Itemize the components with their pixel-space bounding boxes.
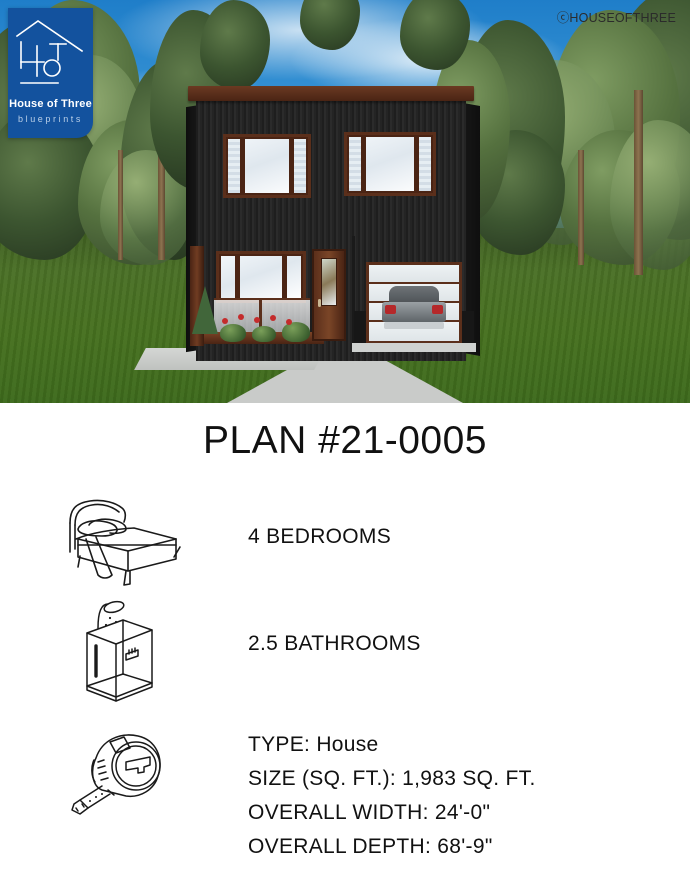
flower: [222, 318, 228, 324]
roof-fascia: [188, 86, 474, 101]
entry-shrub-2: [252, 326, 276, 342]
flower: [270, 315, 276, 321]
flower: [238, 314, 244, 320]
plan-listing-page: House of Three blueprints ⓒHOUSEOFTHREE …: [0, 0, 690, 893]
brand-name: House of Three: [8, 98, 93, 110]
spec-label-bathrooms: 2.5 BATHROOMS: [248, 632, 421, 656]
entry-shrub-3: [282, 322, 310, 342]
flower: [254, 317, 260, 323]
front-door: [312, 249, 346, 341]
garage-door: [366, 262, 462, 344]
detail-width: OVERALL WIDTH: 24'-0": [248, 796, 536, 830]
car-in-garage: [382, 286, 447, 330]
front-window: [216, 251, 306, 303]
shower-icon: [60, 598, 170, 703]
entry-shrub-1: [220, 324, 246, 342]
house-exterior: [196, 86, 466, 378]
detail-depth: OVERALL DEPTH: 68'-9": [248, 830, 536, 864]
garage-pier: [354, 311, 366, 345]
page-title: PLAN #21-0005: [0, 419, 690, 463]
spec-label-bedrooms: 4 BEDROOMS: [248, 525, 391, 549]
entry-conifer: [192, 286, 218, 334]
house-rendering: House of Three blueprints ⓒHOUSEOFTHREE: [0, 0, 690, 403]
detail-type: TYPE: House: [248, 728, 536, 762]
spec-row-bathrooms: 2.5 BATHROOMS: [0, 598, 690, 703]
garage-apron: [352, 343, 476, 352]
upper-window-right: [344, 132, 436, 196]
garage-pier-right: [462, 311, 474, 345]
flower: [286, 319, 292, 325]
bed-icon: [56, 495, 191, 590]
tape-measure-icon: [58, 724, 178, 824]
spec-row-bedrooms: 4 BEDROOMS: [0, 495, 690, 590]
copyright-notice: ⓒHOUSEOFTHREE: [557, 7, 676, 26]
house-roof-monogram-icon: [8, 16, 93, 94]
detail-size: SIZE (SQ. FT.): 1,983 SQ. FT.: [248, 762, 536, 796]
upper-window-left: [223, 134, 311, 198]
brand-tagline: blueprints: [8, 114, 93, 124]
plan-details-list: TYPE: House SIZE (SQ. FT.): 1,983 SQ. FT…: [248, 728, 536, 864]
spec-row-details: TYPE: House SIZE (SQ. FT.): 1,983 SQ. FT…: [0, 722, 690, 872]
brand-logo-badge[interactable]: House of Three blueprints: [8, 8, 93, 138]
